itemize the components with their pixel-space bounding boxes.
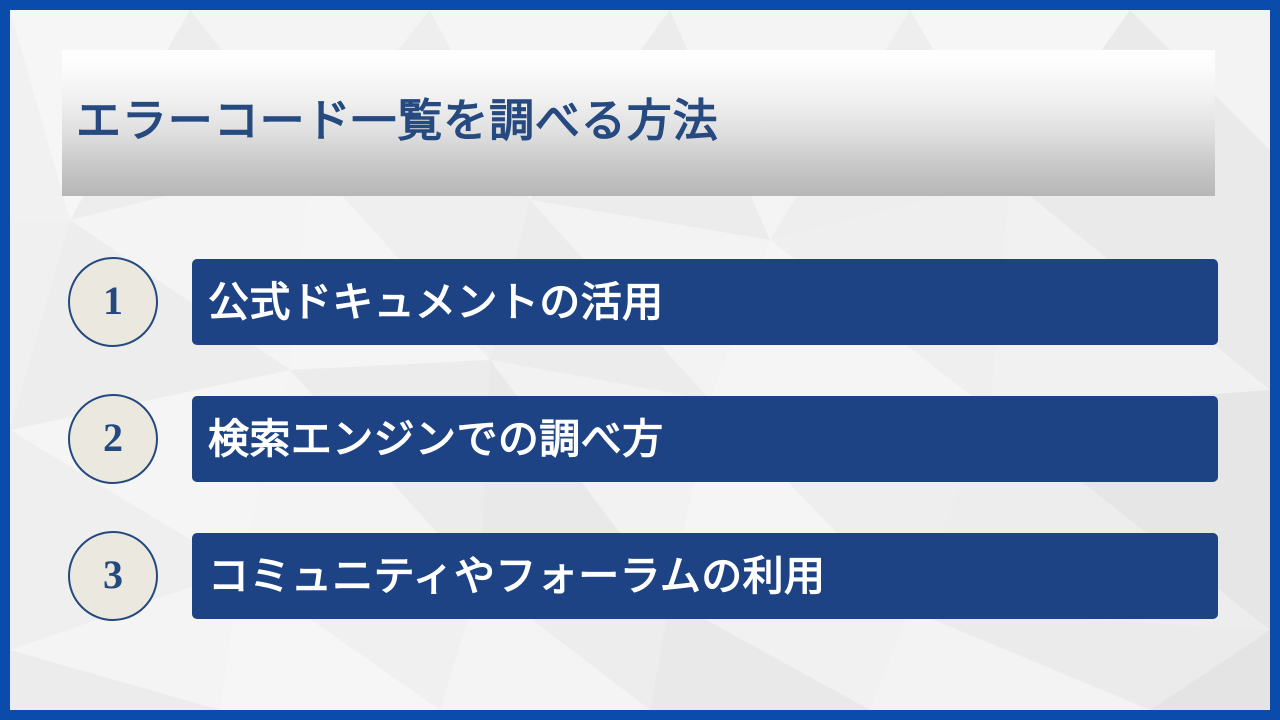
page-title: エラーコード一覧を調べる方法 <box>76 98 719 143</box>
step-bar[interactable]: コミュニティやフォーラムの利用 <box>192 533 1218 619</box>
step-label: 公式ドキュメントの活用 <box>192 282 664 323</box>
slide-canvas: エラーコード一覧を調べる方法 1 公式ドキュメントの活用 2 検索エンジンでの調… <box>0 0 1280 720</box>
step-number-badge: 3 <box>68 531 158 621</box>
step-bar[interactable]: 公式ドキュメントの活用 <box>192 259 1218 345</box>
list-item[interactable]: 3 コミュニティやフォーラムの利用 <box>62 531 1218 621</box>
list-item[interactable]: 1 公式ドキュメントの活用 <box>62 257 1218 347</box>
title-band: エラーコード一覧を調べる方法 <box>62 50 1215 196</box>
step-number-badge: 1 <box>68 257 158 347</box>
step-label: 検索エンジンでの調べ方 <box>192 419 664 460</box>
step-number-label: 1 <box>103 281 123 321</box>
list-item[interactable]: 2 検索エンジンでの調べ方 <box>62 394 1218 484</box>
step-label: コミュニティやフォーラムの利用 <box>192 556 825 597</box>
step-number-badge: 2 <box>68 394 158 484</box>
step-number-label: 3 <box>103 555 123 595</box>
step-number-label: 2 <box>103 418 123 458</box>
step-bar[interactable]: 検索エンジンでの調べ方 <box>192 396 1218 482</box>
